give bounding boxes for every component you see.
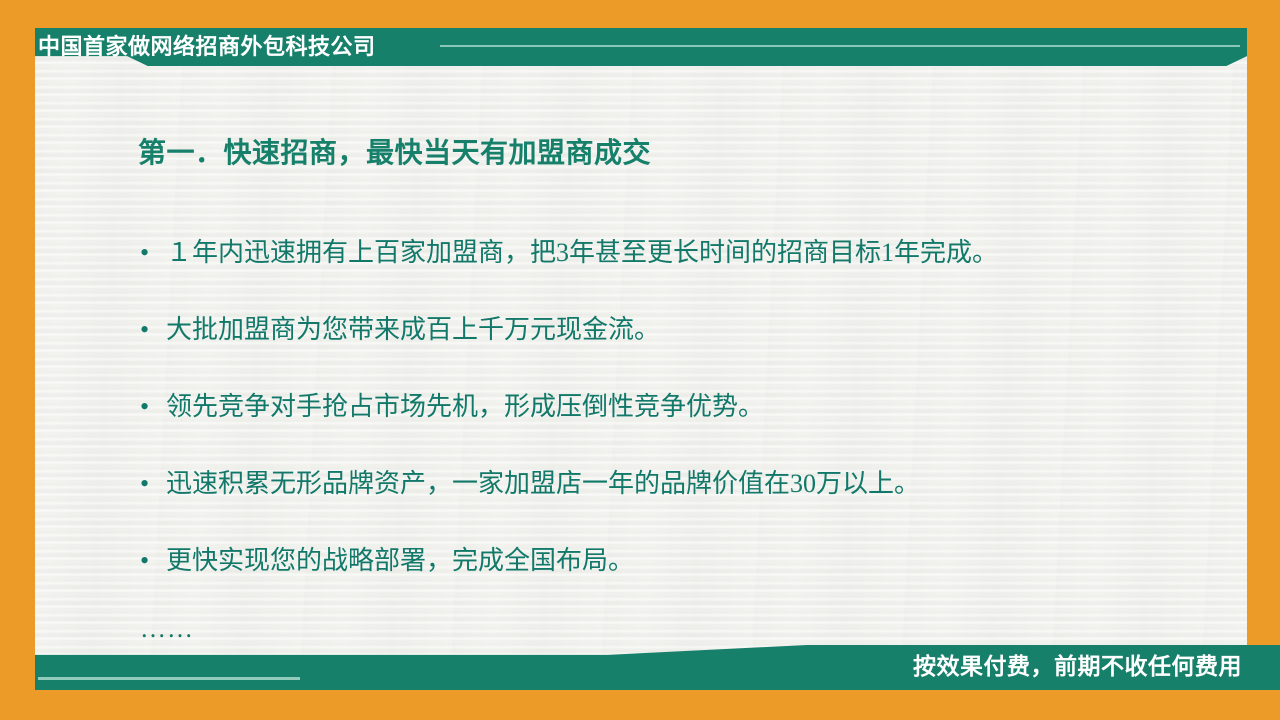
footer-tagline: 按效果付费，前期不收任何费用 — [913, 650, 1242, 682]
orange-edge-right — [1247, 0, 1280, 720]
orange-edge-top — [35, 0, 1280, 28]
list-item-text: 迅速积累无形品牌资产，一家加盟店一年的品牌价值在30万以上。 — [166, 463, 1210, 500]
ellipsis-text: …… — [140, 614, 194, 644]
list-item-text: 领先竞争对手抢占市场先机，形成压倒性竞争优势。 — [166, 386, 1210, 423]
list-item: • 更快实现您的战略部署，完成全国布局。 — [140, 540, 1210, 617]
bullet-marker-icon: • — [140, 240, 166, 266]
orange-edge-bottom — [0, 690, 1280, 720]
list-item: • １年内迅速拥有上百家加盟商，把3年甚至更长时间的招商目标1年完成。 — [140, 232, 1210, 309]
bullet-marker-icon: • — [140, 471, 166, 497]
list-item-text: １年内迅速拥有上百家加盟商，把3年甚至更长时间的招商目标1年完成。 — [166, 232, 1210, 269]
bullet-list: • １年内迅速拥有上百家加盟商，把3年甚至更长时间的招商目标1年完成。 • 大批… — [140, 232, 1210, 617]
orange-edge-left — [0, 0, 35, 720]
list-item-text: 大批加盟商为您带来成百上千万元现金流。 — [166, 309, 1210, 346]
bullet-marker-icon: • — [140, 317, 166, 343]
list-item: • 迅速积累无形品牌资产，一家加盟店一年的品牌价值在30万以上。 — [140, 463, 1210, 540]
footer-divider-line — [38, 677, 300, 680]
slide: 中国首家做网络招商外包科技公司 第一．快速招商，最快当天有加盟商成交 • １年内… — [0, 0, 1280, 720]
company-title: 中国首家做网络招商外包科技公司 — [38, 31, 376, 63]
list-item: • 领先竞争对手抢占市场先机，形成压倒性竞争优势。 — [140, 386, 1210, 463]
bullet-marker-icon: • — [140, 394, 166, 420]
list-item: • 大批加盟商为您带来成百上千万元现金流。 — [140, 309, 1210, 386]
list-item-text: 更快实现您的战略部署，完成全国布局。 — [166, 540, 1210, 577]
bullet-marker-icon: • — [140, 548, 166, 574]
page-title: 第一．快速招商，最快当天有加盟商成交 — [138, 131, 651, 171]
header-divider-line — [440, 45, 1240, 47]
